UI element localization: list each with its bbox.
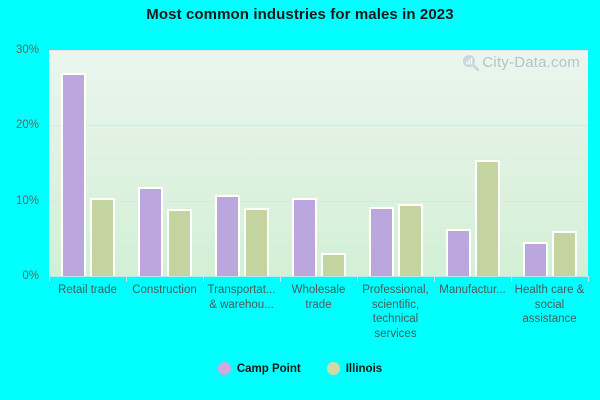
x-category-label: Retail trade [49,283,126,298]
bar[interactable] [446,229,471,276]
bar[interactable] [475,160,500,276]
x-category-label: Health care & social assistance [511,283,588,327]
bar[interactable] [321,253,346,276]
x-tick [126,276,127,282]
x-tick [511,276,512,282]
bar[interactable] [552,231,577,276]
chart-legend: Camp PointIllinois [0,362,600,375]
bar[interactable] [292,198,317,276]
chart-title: Most common industries for males in 2023 [0,6,600,23]
y-tick-label: 20% [16,119,39,131]
x-axis-labels: Retail tradeConstructionTransportat... &… [49,283,588,349]
legend-swatch [327,362,340,375]
x-category-label: Manufactur... [434,283,511,298]
bar-group [49,50,126,276]
bar-group [203,50,280,276]
legend-item[interactable]: Camp Point [218,362,301,375]
bar[interactable] [167,209,192,276]
bar-group [280,50,357,276]
bar-group [434,50,511,276]
legend-label: Illinois [346,363,382,375]
bar[interactable] [90,198,115,276]
x-category-label: Construction [126,283,203,298]
x-tick [49,276,50,282]
bar[interactable] [61,73,86,276]
legend-swatch [218,362,231,375]
bar-group [357,50,434,276]
legend-label: Camp Point [237,363,301,375]
plot-area: City-Data.com [49,50,588,276]
x-tick [280,276,281,282]
bar[interactable] [523,242,548,276]
x-tick [203,276,204,282]
chart-container: Most common industries for males in 2023… [0,0,600,400]
x-tick [588,276,589,282]
y-tick-label: 30% [16,44,39,56]
x-category-label: Transportat... & warehou... [203,283,280,312]
bar-group [511,50,588,276]
bars-layer [49,50,588,276]
bar[interactable] [138,187,163,276]
bar[interactable] [215,195,240,276]
x-category-label: Wholesale trade [280,283,357,312]
x-axis-line [49,276,588,277]
x-tick [434,276,435,282]
x-category-label: Professional, scientific, technical serv… [357,283,434,341]
y-tick-label: 0% [22,270,39,282]
legend-item[interactable]: Illinois [327,362,382,375]
bar[interactable] [369,207,394,276]
x-tick [357,276,358,282]
bar-group [126,50,203,276]
y-tick-label: 10% [16,195,39,207]
bar[interactable] [244,208,269,276]
y-axis: 0%10%20%30% [0,50,44,276]
bar[interactable] [398,204,423,276]
